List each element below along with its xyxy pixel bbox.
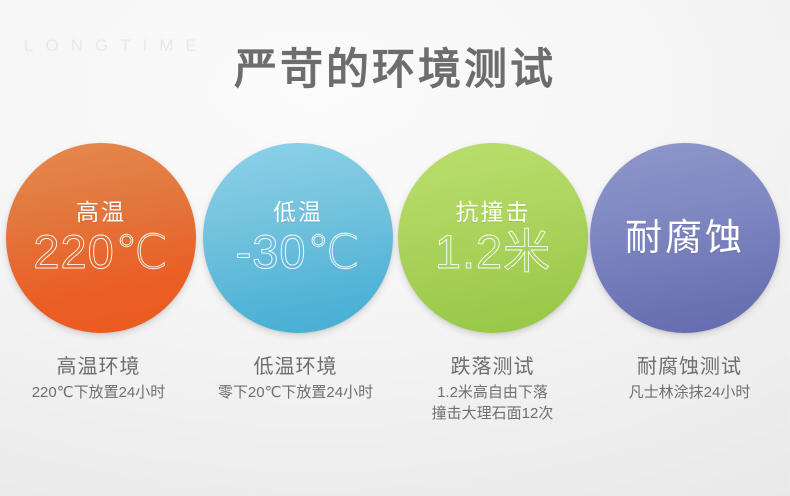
caption-head-corrosion-resistance: 耐腐蚀测试 <box>591 352 788 382</box>
caption-head-low-temperature: 低温环境 <box>197 352 394 382</box>
caption-head-high-temperature: 高温环境 <box>0 352 197 382</box>
promo-banner: LONGTIME 严苛的环境测试 高温 220℃ 低温 -30℃ 抗撞击 1.2… <box>0 0 790 496</box>
caption-low-temperature: 低温环境 零下20℃下放置24小时 <box>197 352 394 424</box>
feature-circle-impact-resistance: 抗撞击 1.2米 <box>398 143 588 333</box>
feature-circle-high-temperature: 高温 220℃ <box>6 143 196 333</box>
circle-label-corrosion-resistance: 耐腐蚀 <box>625 217 745 259</box>
circle-label-high-temperature: 高温 <box>76 199 126 225</box>
feature-circle-low-temperature: 低温 -30℃ <box>203 143 393 333</box>
caption-line1-high-temperature: 220℃下放置24小时 <box>0 382 197 403</box>
caption-line2-drop-test: 撞击大理石面12次 <box>394 403 591 424</box>
feature-circle-corrosion-resistance: 耐腐蚀 <box>590 143 780 333</box>
circle-label-low-temperature: 低温 <box>273 199 323 225</box>
circle-label-impact-resistance: 抗撞击 <box>456 199 531 225</box>
caption-corrosion-resistance: 耐腐蚀测试 凡士林涂抹24小时 <box>591 352 788 424</box>
caption-head-drop-test: 跌落测试 <box>394 352 591 382</box>
circle-value-high-temperature: 220℃ <box>33 226 168 278</box>
caption-line1-low-temperature: 零下20℃下放置24小时 <box>197 382 394 403</box>
caption-high-temperature: 高温环境 220℃下放置24小时 <box>0 352 197 424</box>
feature-circle-group: 高温 220℃ 低温 -30℃ 抗撞击 1.2米 耐腐蚀 <box>0 143 790 343</box>
circle-value-impact-resistance: 1.2米 <box>435 226 551 278</box>
caption-line1-drop-test: 1.2米高自由下落 <box>394 382 591 403</box>
caption-line1-corrosion-resistance: 凡士林涂抹24小时 <box>591 382 788 403</box>
page-title: 严苛的环境测试 <box>0 44 790 96</box>
circle-value-low-temperature: -30℃ <box>236 226 361 278</box>
caption-group: 高温环境 220℃下放置24小时 低温环境 零下20℃下放置24小时 跌落测试 … <box>0 352 790 424</box>
caption-drop-test: 跌落测试 1.2米高自由下落 撞击大理石面12次 <box>394 352 591 424</box>
